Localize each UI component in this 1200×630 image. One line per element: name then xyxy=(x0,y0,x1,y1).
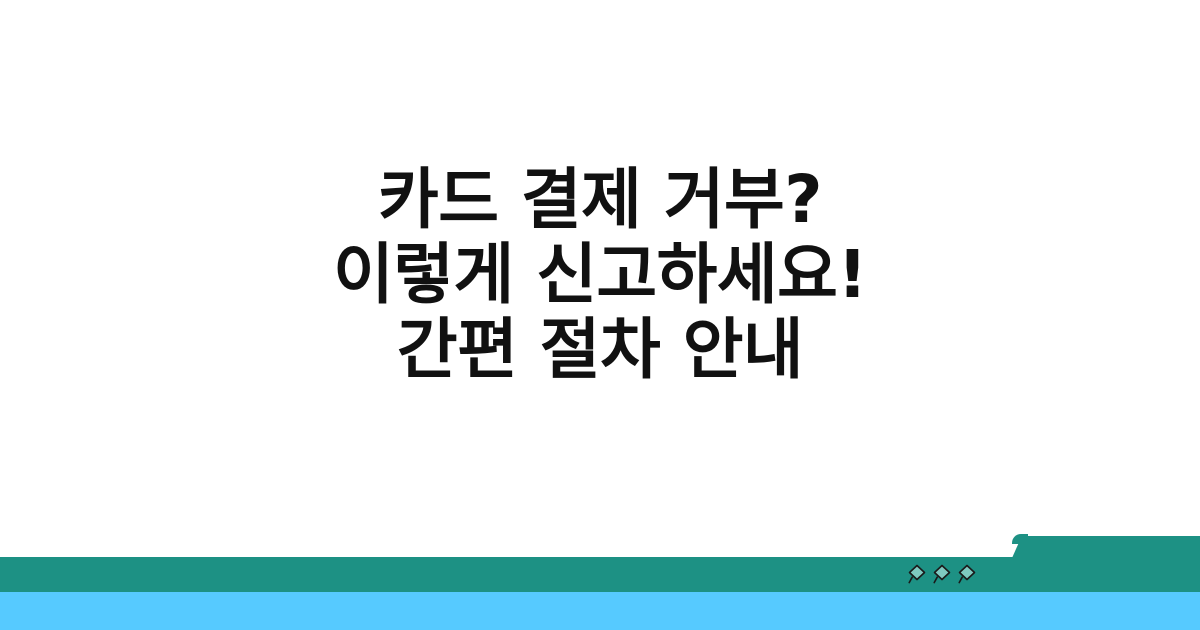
bottom-decoration xyxy=(0,535,1200,630)
title-line-2: 이렇게 신고하세요! xyxy=(333,237,867,312)
teal-band-step-corner xyxy=(1012,534,1028,544)
diamond-sparkle-icon xyxy=(958,564,976,584)
thumbnail-canvas: 카드 결제 거부? 이렇게 신고하세요! 간편 절차 안내 xyxy=(0,0,1200,630)
diamond-sparkle-icon xyxy=(908,564,926,584)
diamond-sparkle-icon xyxy=(933,564,951,584)
sparkle-group xyxy=(908,559,980,589)
title-line-1: 카드 결제 거부? xyxy=(378,162,822,237)
title-line-3: 간편 절차 안내 xyxy=(397,312,803,387)
teal-band xyxy=(0,557,1200,592)
page-title: 카드 결제 거부? 이렇게 신고하세요! 간편 절차 안내 xyxy=(0,0,1200,557)
blue-band xyxy=(0,592,1200,630)
